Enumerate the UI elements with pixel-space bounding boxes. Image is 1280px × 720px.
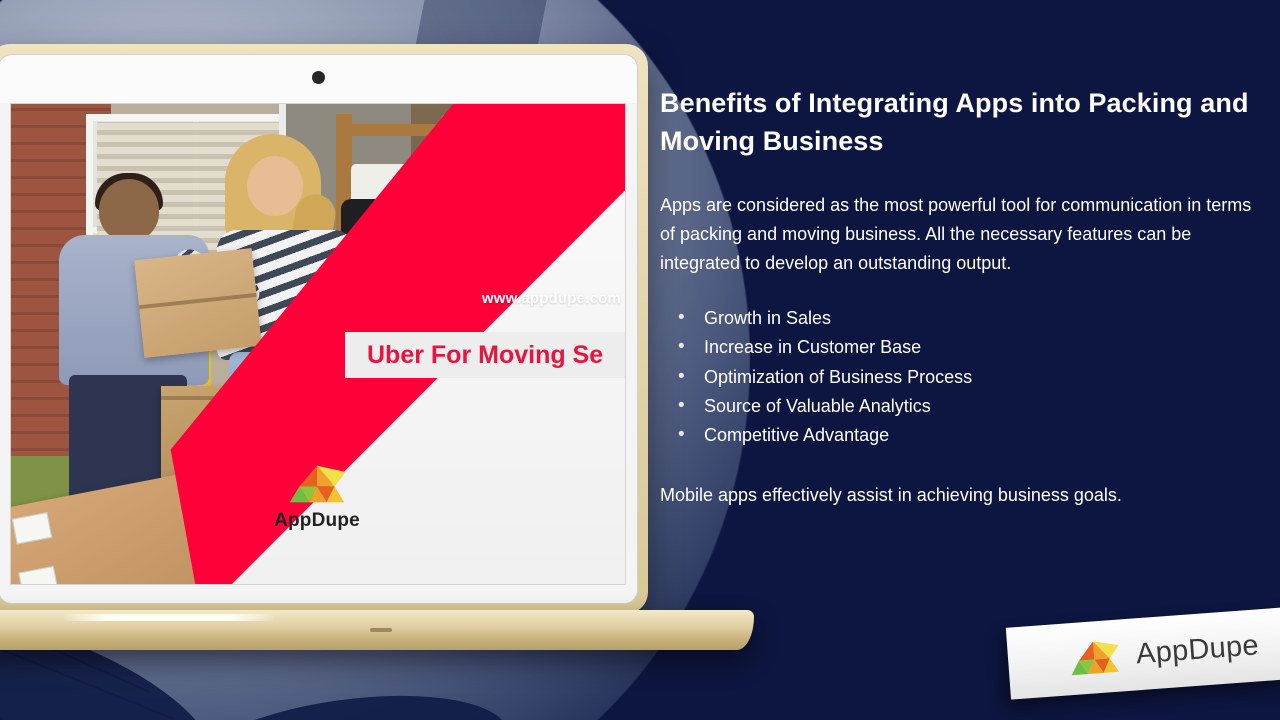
slide-content: Benefits of Integrating Apps into Packin… [660, 84, 1260, 510]
laptop-mockup: www.appdupe.com Uber For Moving Se [0, 44, 770, 644]
laptop-base [0, 610, 754, 650]
website-url: www.appdupe.com [482, 290, 621, 307]
appdupe-logo-badge: AppDupe [1006, 604, 1280, 699]
man-head [99, 179, 159, 241]
shipping-label [18, 566, 58, 584]
screen-headline-bar: Uber For Moving Se [345, 332, 626, 378]
screen-appdupe-logo: AppDupe [247, 462, 387, 532]
list-item: Competitive Advantage [660, 421, 1260, 450]
webcam-icon [312, 71, 325, 84]
laptop-screen: www.appdupe.com Uber For Moving Se [10, 103, 626, 585]
woman-head [247, 156, 303, 216]
slide-canvas: www.appdupe.com Uber For Moving Se [0, 0, 1280, 720]
intro-paragraph: Apps are considered as the most powerful… [660, 191, 1260, 278]
screen-appdupe-wordmark: AppDupe [247, 510, 387, 532]
list-item: Increase in Customer Base [660, 333, 1260, 362]
laptop-bezel: www.appdupe.com Uber For Moving Se [0, 54, 638, 604]
list-item: Source of Valuable Analytics [660, 392, 1260, 421]
list-item: Optimization of Business Process [660, 363, 1260, 392]
appdupe-triangle-mark-icon [285, 462, 349, 506]
screen-headline-text: Uber For Moving Se [367, 341, 603, 370]
list-item: Growth in Sales [660, 304, 1260, 333]
benefits-list: Growth in Sales Increase in Customer Bas… [660, 304, 1260, 451]
closing-statement: Mobile apps effectively assist in achiev… [660, 481, 1260, 510]
cardboard-box [134, 248, 262, 358]
appdupe-triangle-mark-icon [1065, 636, 1124, 678]
appdupe-wordmark: AppDupe [1135, 629, 1260, 671]
laptop-bezel-top [0, 55, 637, 103]
brush-stroke [174, 678, 516, 720]
shipping-label [12, 512, 52, 544]
laptop-lid: www.appdupe.com Uber For Moving Se [0, 44, 648, 614]
brush-stroke [0, 0, 131, 36]
page-title: Benefits of Integrating Apps into Packin… [660, 84, 1260, 161]
